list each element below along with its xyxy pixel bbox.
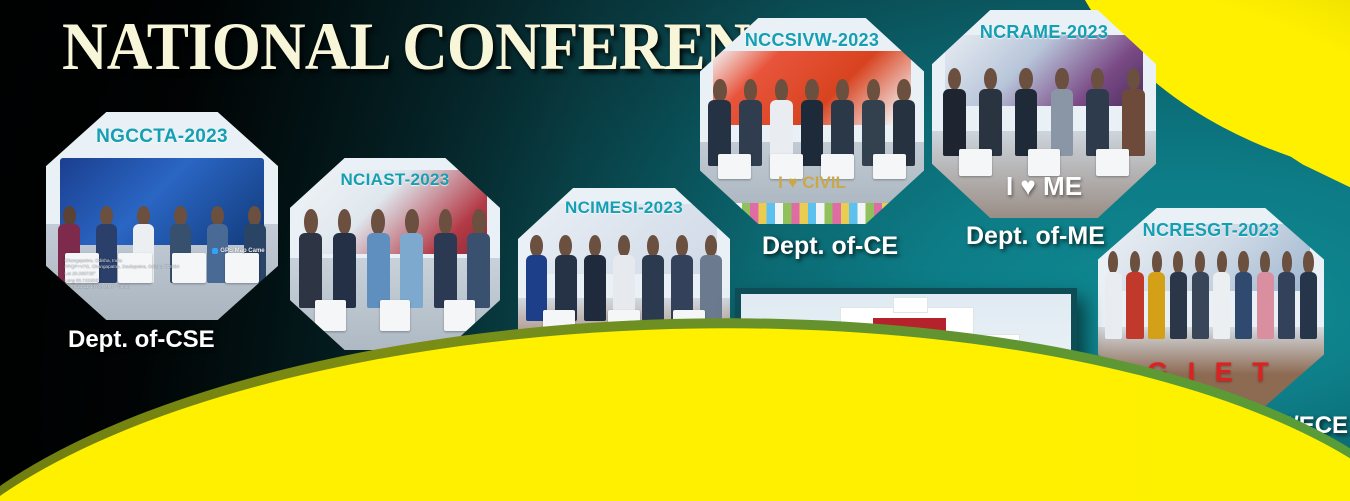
bottom-wave-decoration (0, 271, 1350, 501)
department-label-me: Dept. of-ME (966, 222, 1105, 251)
wave-yellow-band (0, 307, 1350, 501)
stage-letters-nccsivw: I ♥ CIVIL (718, 162, 906, 203)
gps-watermark-header: GPS Map Came (212, 247, 264, 256)
stage-letters-ncrame: I ♥ ME (950, 160, 1138, 214)
conference-card-ncrame[interactable]: I ♥ ME NCRAME-2023 (932, 10, 1156, 218)
gps-line-2: PPQP+V7G, Ghangapatna, Daulapatna, Odish… (65, 264, 269, 271)
national-conferences-banner: NATIONAL CONFERENCES GPS Map Came (0, 0, 1350, 501)
department-label-ce: Dept. of-CE (762, 232, 898, 261)
conference-card-nccsivw[interactable]: I ♥ CIVIL NCCSIVW-2023 (700, 18, 924, 224)
location-pin-icon (212, 248, 218, 254)
